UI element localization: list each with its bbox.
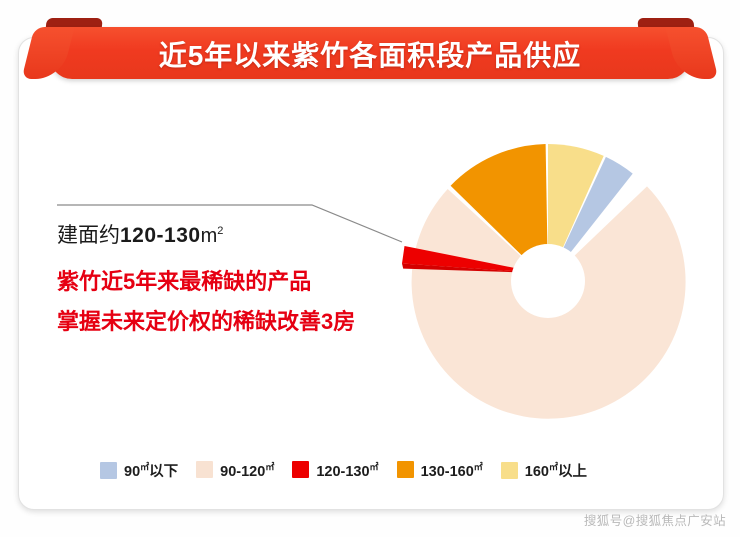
banner-title: 近5年以来紫竹各面积段产品供应	[0, 0, 740, 100]
banner-ribbon: 近5年以来紫竹各面积段产品供应	[0, 0, 740, 100]
source-watermark: 搜狐号@搜狐焦点广安站	[584, 510, 726, 529]
legend-item-120-130[interactable]: 120-130㎡	[292, 460, 378, 480]
callout-area-unit-sup: 2	[217, 225, 223, 237]
legend-swatch-icon	[100, 462, 117, 479]
callout-highlight-line-1: 紫竹近5年来最稀缺的产品	[57, 264, 457, 296]
legend-item-160-plus[interactable]: 160㎡以上	[501, 460, 587, 481]
legend-swatch-icon	[397, 461, 414, 478]
legend-item-130-160[interactable]: 130-160㎡	[397, 460, 483, 480]
legend-item-90-120[interactable]: 90-120㎡	[196, 460, 274, 480]
callout-block: 建面约120-130m2 紫竹近5年来最稀缺的产品 掌握未来定价权的稀缺改善3房	[57, 222, 457, 336]
legend-item-90-below[interactable]: 90㎡以下	[100, 460, 178, 481]
legend-swatch-icon	[196, 461, 213, 478]
callout-lead-text: 建面约	[57, 224, 120, 247]
donut-hole	[511, 244, 585, 318]
legend-label: 90㎡以下	[124, 460, 178, 481]
legend-label: 90-120㎡	[220, 460, 274, 480]
legend-swatch-icon	[501, 462, 518, 479]
callout-area-range: 120-130	[120, 224, 201, 247]
chart-legend: 90㎡以下 90-120㎡ 120-130㎡ 130-160㎡ 160㎡以上	[100, 459, 660, 481]
legend-label: 120-130㎡	[316, 460, 378, 480]
poster-stage: 近5年以来紫竹各面积段产品供应 建面约120-130m2	[0, 0, 740, 537]
callout-area-line: 建面约120-130m2	[57, 222, 457, 250]
callout-area-unit: m	[201, 225, 218, 247]
legend-swatch-icon	[292, 461, 309, 478]
legend-label: 130-160㎡	[421, 460, 483, 480]
callout-highlight-line-2: 掌握未来定价权的稀缺改善3房	[57, 304, 457, 336]
legend-label: 160㎡以上	[525, 460, 587, 481]
